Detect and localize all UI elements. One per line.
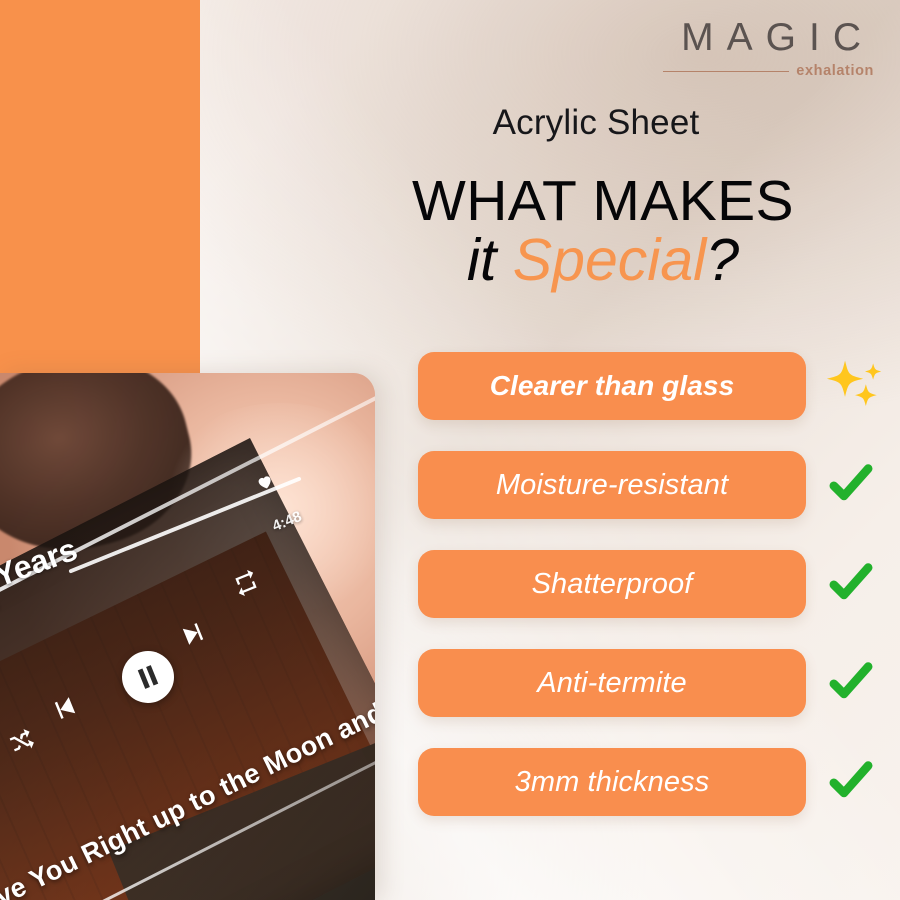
feature-row[interactable]: Shatterproof <box>418 550 888 618</box>
feature-mark <box>826 460 876 510</box>
sparkles-icon <box>826 357 884 415</box>
feature-label: 3mm thickness <box>499 768 726 797</box>
poster-canvas: MAGIC exhalation Acrylic Sheet WHAT MAKE… <box>0 0 900 900</box>
feature-label: Clearer than glass <box>474 372 751 400</box>
feature-mark <box>826 559 876 609</box>
feature-mark <box>826 357 884 415</box>
headline-accent-word: Special <box>513 227 707 293</box>
check-icon <box>826 658 876 708</box>
feature-row[interactable]: Clearer than glass <box>418 352 888 420</box>
check-icon <box>826 460 876 510</box>
feature-label: Moisture-resistant <box>480 471 744 500</box>
feature-mark <box>826 658 876 708</box>
check-icon <box>826 757 876 807</box>
orange-accent-block <box>0 0 200 373</box>
feature-pill[interactable]: Moisture-resistant <box>418 451 806 519</box>
logo-divider-rule <box>663 71 789 72</box>
feature-pill[interactable]: Anti-termite <box>418 649 806 717</box>
feature-pill[interactable]: 3mm thickness <box>418 748 806 816</box>
brand-logo: MAGIC exhalation <box>663 18 874 79</box>
feature-label: Shatterproof <box>516 570 709 599</box>
feature-list: Clearer than glassMoisture-resistantShat… <box>418 352 888 847</box>
brand-name: MAGIC <box>663 18 874 57</box>
headline-suffix: ? <box>706 227 739 293</box>
product-photo: 4:48 d Years rri ve You Right up to the … <box>0 373 375 900</box>
headline-prefix: it <box>467 227 513 293</box>
feature-pill[interactable]: Clearer than glass <box>418 352 806 420</box>
feature-row[interactable]: Moisture-resistant <box>418 451 888 519</box>
brand-tagline-row: exhalation <box>663 64 874 79</box>
feature-pill[interactable]: Shatterproof <box>418 550 806 618</box>
check-icon <box>826 559 876 609</box>
headline-line-2: it Special? <box>378 230 828 290</box>
feature-row[interactable]: 3mm thickness <box>418 748 888 816</box>
feature-row[interactable]: Anti-termite <box>418 649 888 717</box>
feature-mark <box>826 757 876 807</box>
headline-line-1: WHAT MAKES <box>378 172 828 230</box>
kicker-text: Acrylic Sheet <box>392 104 800 143</box>
feature-label: Anti-termite <box>521 669 702 698</box>
brand-tagline: exhalation <box>796 64 874 79</box>
